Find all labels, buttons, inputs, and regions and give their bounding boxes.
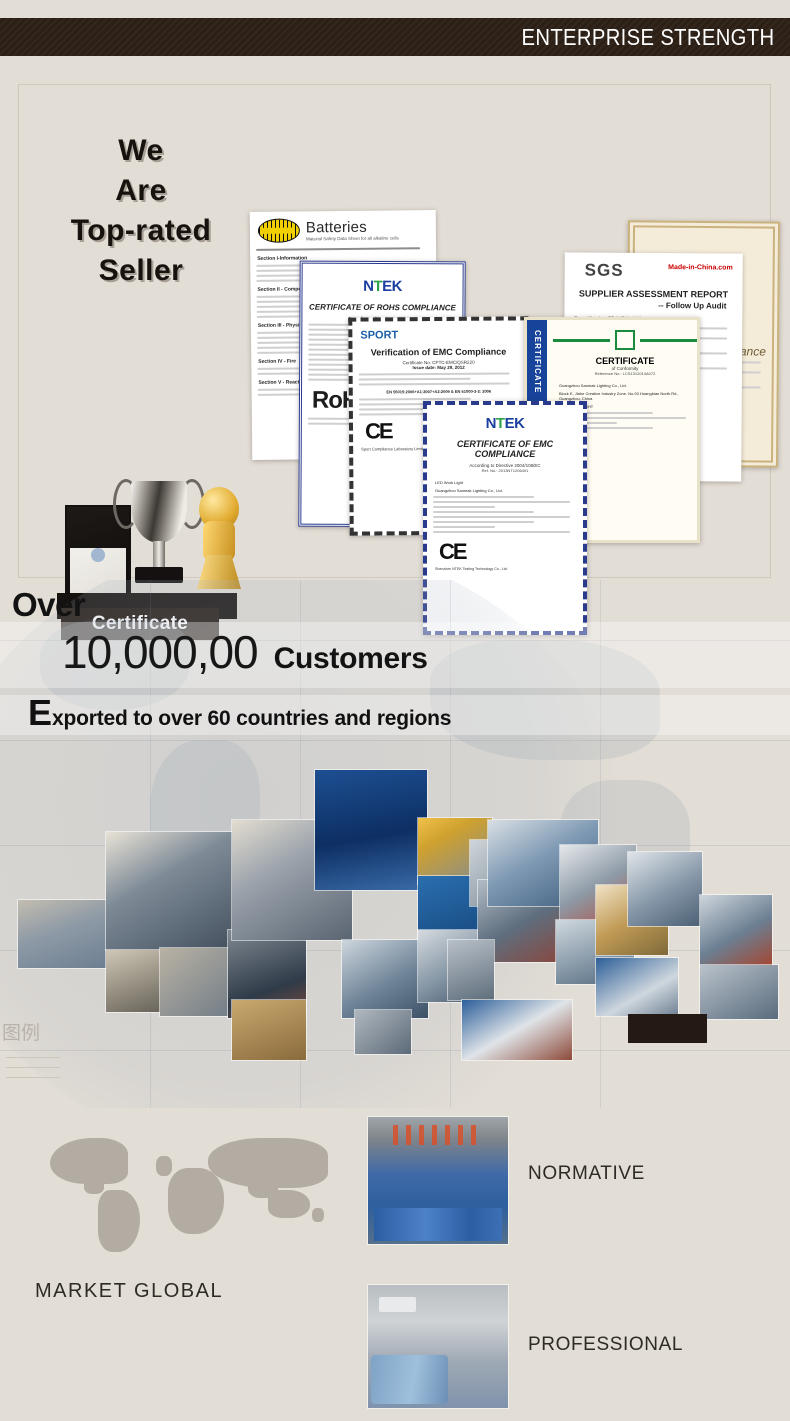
collage-photo	[160, 948, 238, 1016]
collage-photo	[596, 958, 678, 1016]
made-in-china-logo: Made-in-China.com	[668, 264, 733, 271]
ntek-emc-lab: Shenzhen NTEK Testing Technology Co., Lt…	[435, 567, 575, 571]
ntek-emc-title: CERTIFICATE OF EMC COMPLIANCE	[427, 439, 583, 459]
sport-emc-issue-date: Issue date: May 28, 2012	[353, 364, 525, 370]
heading-line-2: Are	[43, 171, 239, 211]
sgs-title: SUPPLIER ASSESSMENT REPORT	[564, 288, 742, 299]
certificates-panel: We Are Top-rated Seller Certificate ance	[18, 84, 771, 578]
conformity-address: Block E, Jiahe Creative Industry Zone, N…	[559, 391, 691, 401]
over-label: Over	[12, 586, 85, 624]
ntek-emc-logo: NTEK	[427, 415, 583, 432]
page-banner: ENTERPRISE STRENGTH	[0, 18, 790, 56]
conformity-mark-icon	[615, 330, 635, 350]
export-initial: E	[28, 692, 52, 734]
conformity-side-label: CERTIFICATE	[533, 330, 542, 393]
ntek-emc-ref: Ref. No.: 2013NT1206401	[427, 468, 583, 473]
collage-photo	[700, 965, 778, 1019]
ntek-logo: NTEK	[303, 278, 463, 296]
factory-assembly-line-photo	[368, 1117, 508, 1244]
professional-label: PROFESSIONAL	[528, 1334, 683, 1356]
customer-count-row: 10,000,00 Customers	[62, 625, 428, 679]
heading-line-3: Top-rated	[43, 211, 239, 251]
uniworld-globe-icon	[258, 218, 300, 242]
ntek-ce-mark-icon: CE	[439, 539, 583, 565]
heading-line-4: Seller	[43, 251, 239, 291]
conformity-reference: Reference No.: LCS1312014A072	[553, 371, 697, 376]
sport-emc-title: Verification of EMC Compliance	[352, 346, 524, 357]
sport-emc-standard: EN 55015:2006+A1:2007+A2:2009 & EN 61000…	[357, 388, 521, 394]
rohs-title: CERTIFICATE OF ROHS COMPLIANCE	[302, 303, 462, 313]
trophy-cup-icon	[121, 471, 197, 595]
customers-label: Customers	[274, 642, 428, 676]
top-rated-seller-heading: We Are Top-rated Seller	[43, 131, 239, 291]
collage-photo	[628, 852, 702, 926]
batteries-title: Batteries	[306, 218, 399, 236]
collage-photo	[700, 895, 772, 967]
collage-photo	[18, 900, 106, 968]
map-legend-label: 图例	[2, 1018, 40, 1045]
world-map-silhouette	[40, 1130, 340, 1265]
enterprise-strength-page: ENTERPRISE STRENGTH We Are Top-rated Sel…	[0, 0, 790, 1421]
ntek-emc-product: LED Work Light	[435, 480, 575, 485]
conformity-applicant: Guangzhou Sanmak Lighting Co., Ltd.	[559, 383, 691, 388]
sport-logo: SPORT	[360, 328, 524, 341]
collage-photo	[232, 1000, 306, 1060]
normative-label: NORMATIVE	[528, 1163, 645, 1185]
collage-photo	[448, 940, 494, 1000]
collage-photo	[315, 770, 427, 890]
heading-line-1: We	[43, 131, 239, 171]
collage-photo	[106, 832, 232, 950]
sgs-logo: SGS	[585, 261, 624, 281]
collage-photo	[355, 1010, 411, 1054]
cleanroom-production-photo	[368, 1285, 508, 1408]
conformity-title: CERTIFICATE	[553, 356, 697, 366]
export-text: xported to over 60 countries and regions	[52, 707, 451, 731]
redacted-block	[628, 1014, 707, 1043]
customer-count: 10,000,00	[62, 625, 258, 679]
ntek-emc-applicant: Guangzhou Sanmak Lighting Co., Ltd.	[435, 488, 575, 493]
collage-photo	[342, 940, 428, 1018]
batteries-subtitle: Material Safety Data Sheet for all alkal…	[306, 235, 399, 241]
map-legend-rows	[6, 1048, 96, 1087]
sgs-subtitle: -- Follow Up Audit	[564, 300, 726, 310]
export-statement: E xported to over 60 countries and regio…	[28, 692, 451, 734]
banner-title: ENTERPRISE STRENGTH	[521, 24, 774, 51]
collage-photo	[462, 1000, 572, 1060]
market-global-label: MARKET GLOBAL	[35, 1280, 223, 1303]
